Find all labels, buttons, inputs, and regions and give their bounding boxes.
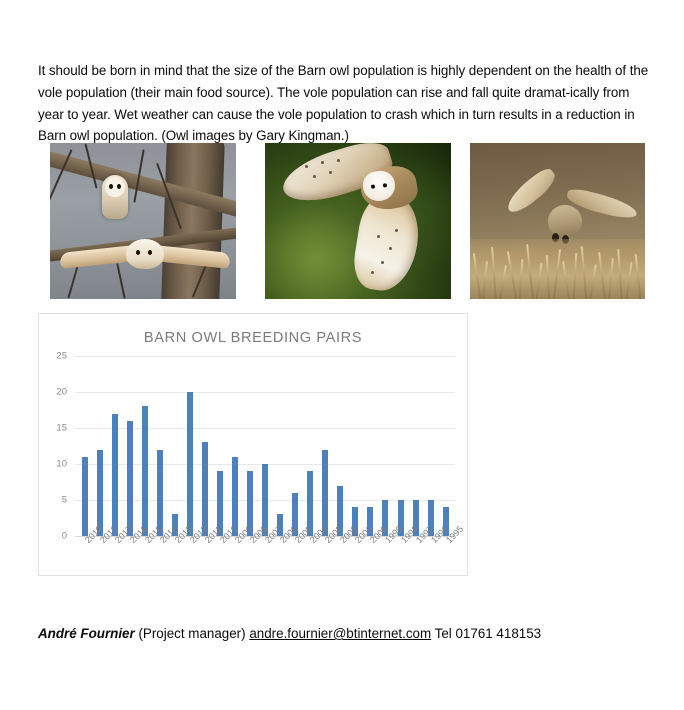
chart-bar-slot — [438, 356, 453, 536]
chart-bar-slot — [122, 356, 137, 536]
chart-x-slot: 2001 — [348, 538, 363, 578]
chart-bar-slot — [92, 356, 107, 536]
chart-bar-slot — [423, 356, 438, 536]
photo-1-owl-left-wing — [59, 245, 136, 269]
photo-1-perched-owl — [102, 175, 128, 219]
chart-bar-slot — [393, 356, 408, 536]
photo-1-tree-trunk — [161, 143, 225, 299]
chart-x-slot: 2006 — [273, 538, 288, 578]
chart-title: BARN OWL BREEDING PAIRS — [39, 330, 467, 346]
chart-bar-slot — [167, 356, 182, 536]
footer-contact-line: André Fournier (Project manager) andre.f… — [38, 624, 541, 644]
photo-1-owl-eye — [136, 250, 140, 255]
photo-1-owl-eye — [117, 184, 121, 189]
chart-y-tick-label: 15 — [56, 423, 67, 434]
chart-bar — [97, 450, 103, 536]
chart-x-slot: 2007 — [258, 538, 273, 578]
chart-x-slot: 2008 — [243, 538, 258, 578]
chart-bar-slot — [197, 356, 212, 536]
chart-x-slot: 2009 — [227, 538, 242, 578]
chart-x-slot: 2014 — [152, 538, 167, 578]
chart-x-slot: 1996 — [423, 538, 438, 578]
chart-bar-slot — [152, 356, 167, 536]
chart-x-slot: 2011 — [197, 538, 212, 578]
chart-bar — [142, 406, 148, 536]
chart-x-slot: 2013 — [167, 538, 182, 578]
photo-1-perched-owl-face — [105, 177, 125, 197]
chart-y-tick-label: 10 — [56, 459, 67, 470]
photo-1-flying-owl — [60, 239, 230, 269]
barn-owl-breeding-pairs-chart: BARN OWL BREEDING PAIRS 0510152025 20192… — [38, 313, 468, 576]
chart-bar — [157, 450, 163, 536]
author-phone: Tel 01761 418153 — [431, 626, 541, 641]
chart-bars — [75, 356, 455, 536]
chart-bar-slot — [182, 356, 197, 536]
chart-x-slot: 1997 — [408, 538, 423, 578]
photo-1-branches — [50, 143, 236, 299]
intro-paragraph: It should be born in mind that the size … — [38, 60, 650, 146]
document-page: It should be born in mind that the size … — [0, 0, 684, 710]
chart-bar-slot — [333, 356, 348, 536]
chart-bar-slot — [408, 356, 423, 536]
chart-bar-slot — [288, 356, 303, 536]
chart-x-slot: 2000 — [363, 538, 378, 578]
chart-x-slot: 2012 — [182, 538, 197, 578]
chart-bar — [322, 450, 328, 536]
chart-bar-slot — [77, 356, 92, 536]
chart-bar-slot — [348, 356, 363, 536]
chart-bar-slot — [243, 356, 258, 536]
chart-y-tick-label: 5 — [62, 495, 67, 506]
chart-y-tick-label: 25 — [56, 351, 67, 362]
chart-bar — [202, 442, 208, 536]
chart-x-slot: 1998 — [393, 538, 408, 578]
photo-3-owl-body — [548, 205, 582, 237]
author-name: André Fournier — [38, 626, 135, 641]
chart-plot-area: 0510152025 — [39, 356, 467, 536]
chart-x-slot: 1995 — [438, 538, 453, 578]
photo-1-owl-eye — [109, 184, 113, 189]
author-role: (Project manager) — [135, 626, 250, 641]
photo-2-wing-spots — [265, 143, 451, 299]
chart-x-slot: 2004 — [303, 538, 318, 578]
chart-bar-slot — [303, 356, 318, 536]
chart-bar-slot — [378, 356, 393, 536]
chart-bar-slot — [318, 356, 333, 536]
chart-x-slot: 2016 — [122, 538, 137, 578]
chart-grid-area — [75, 356, 455, 536]
owl-photo-1 — [50, 143, 236, 299]
chart-x-slot: 2003 — [318, 538, 333, 578]
chart-y-axis: 0510152025 — [39, 356, 71, 536]
chart-x-slot: 2017 — [107, 538, 122, 578]
photo-1-owl-right-wing — [153, 245, 230, 269]
chart-bar-slot — [227, 356, 242, 536]
chart-x-slot: 2010 — [212, 538, 227, 578]
photo-1-owl-body — [126, 239, 164, 269]
chart-bar-slot — [273, 356, 288, 536]
chart-x-slot: 2018 — [92, 538, 107, 578]
chart-y-tick-label: 20 — [56, 387, 67, 398]
chart-x-slot: 2015 — [137, 538, 152, 578]
author-email-link[interactable]: andre.fournier@btinternet.com — [249, 626, 431, 641]
chart-x-axis: 2019201820172016201520142013201220112010… — [75, 538, 455, 578]
chart-x-slot: 2019 — [77, 538, 92, 578]
photo-1-owl-eye — [148, 250, 152, 255]
owl-photo-strip — [50, 143, 645, 299]
chart-bar — [112, 414, 118, 536]
chart-bar — [187, 392, 193, 536]
chart-y-tick-label: 0 — [62, 531, 67, 542]
chart-x-slot: 1999 — [378, 538, 393, 578]
chart-bar — [127, 421, 133, 536]
chart-bar-slot — [212, 356, 227, 536]
chart-bar-slot — [107, 356, 122, 536]
chart-bar-slot — [363, 356, 378, 536]
owl-photo-2 — [265, 143, 451, 299]
owl-photo-3 — [470, 143, 645, 299]
chart-x-slot: 2005 — [288, 538, 303, 578]
chart-bar — [82, 457, 88, 536]
chart-x-slot: 2002 — [333, 538, 348, 578]
chart-bar-slot — [137, 356, 152, 536]
chart-bar-slot — [258, 356, 273, 536]
